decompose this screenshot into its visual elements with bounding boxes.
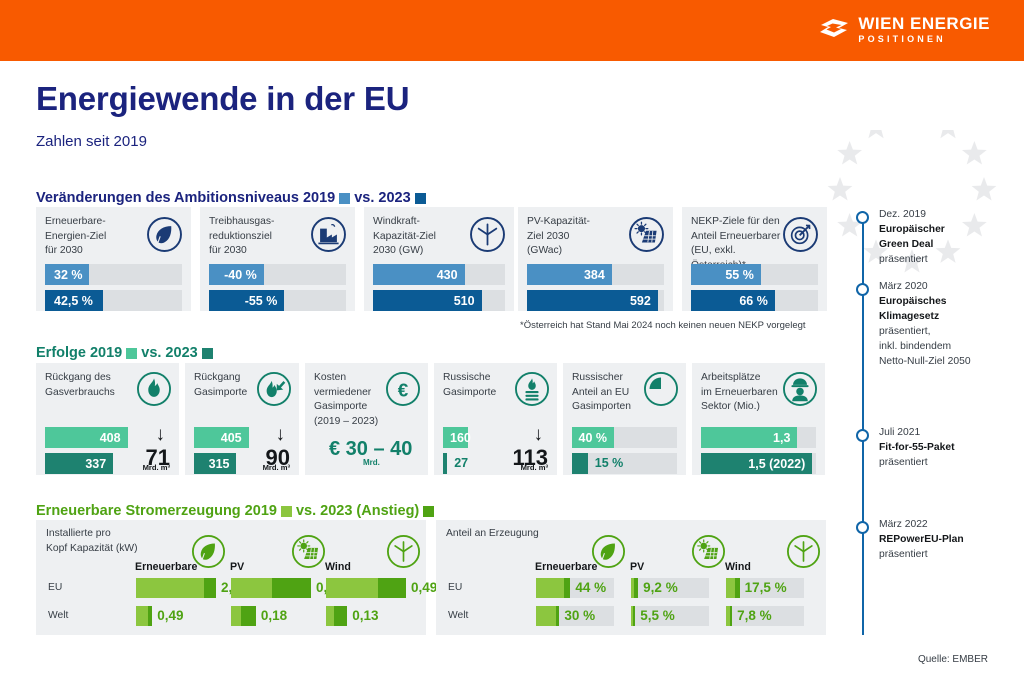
eu-star bbox=[962, 141, 987, 165]
bar-track: 30 % bbox=[536, 606, 614, 626]
bar-fill-2019 bbox=[536, 606, 556, 626]
group-icon bbox=[191, 534, 226, 574]
eu-star bbox=[828, 177, 853, 201]
bar-fill-2019: 1,3 bbox=[701, 427, 797, 448]
bar-fill-total bbox=[536, 578, 570, 598]
bar-track: 0,18 bbox=[231, 606, 311, 626]
bar-value-label: 42,5 % bbox=[54, 294, 93, 308]
bar-fill-2019: -40 % bbox=[209, 264, 264, 285]
panel-title: Installierte proKopf Kapazität (kW) bbox=[46, 527, 206, 556]
timeline-date: März 2022 bbox=[879, 518, 1009, 533]
eu-star bbox=[972, 177, 997, 201]
group-label: PV bbox=[230, 561, 244, 573]
bar-fill-2019 bbox=[231, 606, 241, 626]
section-heading-stromerzeugung: Erneuerbare Stromerzeugung 2019vs. 2023 … bbox=[36, 503, 438, 519]
card-title: Arbeitsplätzeim ErneuerbarenSektor (Mio.… bbox=[701, 371, 788, 415]
card-icon bbox=[782, 216, 819, 258]
legend-swatch-2019 bbox=[126, 348, 137, 359]
bar-fill-2023: 510 bbox=[373, 290, 482, 311]
bar-fill-total bbox=[631, 606, 635, 626]
section-heading-compare: vs. 2023 bbox=[354, 190, 410, 206]
group-icon bbox=[786, 534, 821, 574]
bar-fill-total bbox=[726, 606, 732, 626]
timeline-title: Fit-for-55-Paket bbox=[879, 442, 955, 453]
bar-fill-2019: 430 bbox=[373, 264, 465, 285]
target-icon bbox=[782, 216, 819, 253]
erfolge-card-2: KostenvermiedenerGasimporte(2019 – 2023)… bbox=[305, 363, 428, 475]
legend-swatch-2023 bbox=[202, 348, 213, 359]
ambition-card-1: Treibhausgas-reduktionszielfür 2030-40 %… bbox=[200, 207, 355, 311]
factory-icon bbox=[310, 216, 347, 253]
ambition-card-4: NEKP-Ziele für denAnteil Erneuerbarer(EU… bbox=[682, 207, 827, 311]
bar-track: 510 bbox=[373, 290, 505, 311]
bar-track: 5,5 % bbox=[631, 606, 709, 626]
bar-fill-total bbox=[326, 578, 406, 598]
bar-fill-2019 bbox=[136, 606, 148, 626]
bar-value-label: 5,5 % bbox=[640, 608, 675, 623]
bar-value-label: 592 bbox=[630, 294, 651, 308]
bar-value-label: 15 % bbox=[595, 456, 624, 470]
group-label: PV bbox=[630, 561, 644, 573]
source-note: Quelle: EMBER bbox=[918, 654, 988, 665]
delta-unit: Mrd. m³ bbox=[263, 463, 290, 472]
bar-track: 66 % bbox=[691, 290, 818, 311]
timeline-dot-2[interactable] bbox=[856, 429, 869, 442]
timeline-date: Juli 2021 bbox=[879, 426, 1009, 441]
bar-fill-total bbox=[726, 578, 740, 598]
bar-track: 44 % bbox=[536, 578, 614, 598]
wind-turbine-icon bbox=[386, 534, 421, 569]
bar-fill-2023: 42,5 % bbox=[45, 290, 103, 311]
bar-value-label: 408 bbox=[100, 431, 121, 445]
decrease-arrow-icon: ↓ bbox=[276, 425, 286, 444]
bar-track: 0,49 bbox=[326, 578, 406, 598]
bar-value-label: 315 bbox=[209, 457, 230, 471]
solar-panel-icon bbox=[691, 534, 726, 569]
bar-value-label: 160 bbox=[450, 431, 471, 445]
row-label-eu: EU bbox=[48, 582, 62, 593]
card-title: Windkraft-Kapazität-Ziel2030 (GW) bbox=[373, 215, 475, 259]
timeline-entry-3: März 2022REPowerEU-Planpräsentiert bbox=[879, 518, 1009, 563]
row-label-welt: Welt bbox=[448, 610, 468, 621]
timeline-detail: präsentiert bbox=[879, 456, 1009, 471]
bar-track: 1,5 (2022) bbox=[701, 453, 816, 474]
timeline-title: REPowerEU-Plan bbox=[879, 534, 964, 545]
strom-panel-0: Installierte proKopf Kapazität (kW)EUWel… bbox=[36, 520, 426, 635]
timeline-detail: präsentiert,inkl. bindendemNetto-Null-Zi… bbox=[879, 325, 1009, 370]
card-icon bbox=[146, 216, 183, 258]
bar-track: 405 bbox=[194, 427, 252, 448]
bar-value-label: 44 % bbox=[575, 580, 606, 595]
solar-panel-icon bbox=[291, 534, 326, 569]
legend-swatch-2023 bbox=[415, 193, 426, 204]
row-label-welt: Welt bbox=[48, 610, 68, 621]
bar-track: 17,5 % bbox=[726, 578, 804, 598]
timeline-axis bbox=[862, 213, 864, 635]
bar-fill-2023: 315 bbox=[194, 453, 236, 474]
bar-track: 40 % bbox=[572, 427, 677, 448]
card-icon: € bbox=[385, 371, 421, 412]
bar-fill-2019: 384 bbox=[527, 264, 612, 285]
bar-fill-2019: 408 bbox=[45, 427, 128, 448]
section-heading-label: Veränderungen des Ambitionsniveaus 2019 bbox=[36, 190, 335, 206]
bar-track: 0,58 bbox=[231, 578, 311, 598]
timeline-entry-0: Dez. 2019EuropäischerGreen Dealpräsentie… bbox=[879, 208, 1009, 268]
erfolge-card-1: RückgangGasimporte405315↓90Mrd. m³ bbox=[185, 363, 299, 475]
bar-track: -55 % bbox=[209, 290, 346, 311]
bar-fill-total bbox=[136, 578, 216, 598]
brand-title: WIEN ENERGIE bbox=[858, 15, 990, 32]
bar-track: 7,8 % bbox=[726, 606, 804, 626]
legend-swatch-2019 bbox=[281, 506, 292, 517]
bar-track: 2,42 bbox=[136, 578, 216, 598]
card-icon bbox=[136, 371, 172, 412]
card-title: RückgangGasimporte bbox=[194, 371, 262, 400]
pie-chart-icon bbox=[643, 371, 679, 407]
bar-value-label: 66 % bbox=[739, 294, 768, 308]
bar-track: 337 bbox=[45, 453, 132, 474]
bar-value-label: 337 bbox=[85, 457, 106, 471]
ambition-card-3: PV-Kapazität-Ziel 2030(GWac)384592 bbox=[518, 207, 673, 311]
ambition-card-2: Windkraft-Kapazität-Ziel2030 (GW)430510 bbox=[364, 207, 514, 311]
timeline-detail: präsentiert bbox=[879, 253, 1009, 268]
eu-star bbox=[864, 130, 889, 138]
bar-value-label: 384 bbox=[584, 268, 605, 282]
bar-fill-2019 bbox=[631, 578, 634, 598]
erfolge-card-3: RussischeGasimporte16027↓113Mrd. m³ bbox=[434, 363, 557, 475]
card-title: PV-Kapazität-Ziel 2030(GWac) bbox=[527, 215, 634, 259]
leaf-icon bbox=[191, 534, 226, 569]
timeline-entry-2: Juli 2021Fit-for-55-Paketpräsentiert bbox=[879, 426, 1009, 471]
group-label: Wind bbox=[325, 561, 351, 573]
ambition-footnote: *Österreich hat Stand Mai 2024 noch kein… bbox=[520, 320, 806, 331]
bar-fill-2019: 405 bbox=[194, 427, 249, 448]
wien-energie-logo: WIEN ENERGIE POSITIONEN bbox=[819, 15, 990, 44]
bar-fill-2019: 160 bbox=[443, 427, 468, 448]
bar-track: 9,2 % bbox=[631, 578, 709, 598]
timeline-date: März 2020 bbox=[879, 280, 1009, 295]
bar-track: 0,49 bbox=[136, 606, 216, 626]
card-title: Erneuerbare-Energien-Zielfür 2030 bbox=[45, 215, 152, 259]
group-icon bbox=[291, 534, 326, 574]
timeline-title: EuropäischesKlimagesetz bbox=[879, 296, 947, 322]
bar-track: 592 bbox=[527, 290, 664, 311]
eu-star bbox=[936, 130, 961, 138]
bar-value-label: 1,5 (2022) bbox=[748, 457, 805, 471]
svg-text:€: € bbox=[398, 379, 409, 400]
timeline-title: EuropäischerGreen Deal bbox=[879, 224, 945, 250]
bar-fill-2019: 55 % bbox=[691, 264, 761, 285]
flame-icon bbox=[136, 371, 172, 407]
bar-value-label: 30 % bbox=[564, 608, 595, 623]
bar-fill-2019: 40 % bbox=[572, 427, 614, 448]
stat-value: € 30 – 40 bbox=[329, 439, 412, 459]
bar-fill-2019 bbox=[326, 606, 334, 626]
bar-value-label: -40 % bbox=[224, 268, 257, 282]
flame-down-icon bbox=[256, 371, 292, 407]
bar-fill-2019 bbox=[726, 578, 735, 598]
card-icon bbox=[628, 216, 665, 258]
erfolge-card-5: Arbeitsplätzeim ErneuerbarenSektor (Mio.… bbox=[692, 363, 825, 475]
bar-track: 15 % bbox=[572, 453, 677, 474]
decrease-arrow-icon: ↓ bbox=[156, 425, 166, 444]
bar-fill-2023: 66 % bbox=[691, 290, 775, 311]
lightning-logo-icon bbox=[819, 18, 849, 42]
group-icon bbox=[386, 534, 421, 574]
timeline-date: Dez. 2019 bbox=[879, 208, 1009, 223]
bar-track: 384 bbox=[527, 264, 664, 285]
leaf-icon bbox=[591, 534, 626, 569]
timeline-entry-1: März 2020EuropäischesKlimagesetzpräsenti… bbox=[879, 280, 1009, 370]
bar-track: 408 bbox=[45, 427, 132, 448]
group-label: Erneuerbare bbox=[135, 561, 197, 573]
timeline-dot-1[interactable] bbox=[856, 283, 869, 296]
page-title: Energiewende in der EU bbox=[36, 80, 409, 118]
bar-fill-2019 bbox=[136, 578, 204, 598]
bar-value-label: 55 % bbox=[725, 268, 754, 282]
group-label: Wind bbox=[725, 561, 751, 573]
card-icon bbox=[469, 216, 506, 258]
bar-track: 430 bbox=[373, 264, 505, 285]
bar-fill-2019 bbox=[326, 578, 378, 598]
stat-unit: Mrd. bbox=[363, 458, 380, 467]
wind-turbine-icon bbox=[469, 216, 506, 253]
page-subtitle: Zahlen seit 2019 bbox=[36, 133, 147, 150]
delta-unit: Mrd. m³ bbox=[521, 463, 548, 472]
timeline-dot-0[interactable] bbox=[856, 211, 869, 224]
bar-fill-2019 bbox=[631, 606, 633, 626]
timeline-dot-3[interactable] bbox=[856, 521, 869, 534]
section-heading-label: Erfolge 2019 bbox=[36, 345, 122, 361]
bar-fill-2023: -55 % bbox=[209, 290, 284, 311]
bar-value-label: 0,49 bbox=[411, 580, 437, 595]
gas-storage-icon bbox=[514, 371, 550, 407]
brand-subtitle: POSITIONEN bbox=[858, 35, 990, 44]
bar-track: 0,13 bbox=[326, 606, 406, 626]
ambition-card-0: Erneuerbare-Energien-Zielfür 203032 %42,… bbox=[36, 207, 191, 311]
erfolge-card-4: RussischerAnteil an EUGasimporten40 %15 … bbox=[563, 363, 686, 475]
bar-value-label: 1,3 bbox=[773, 431, 790, 445]
bar-value-label: 40 % bbox=[579, 431, 608, 445]
bar-value-label: 9,2 % bbox=[643, 580, 678, 595]
bar-fill-total bbox=[231, 578, 311, 598]
bar-fill-2019 bbox=[231, 578, 272, 598]
card-title: RussischerAnteil an EUGasimporten bbox=[572, 371, 649, 415]
bar-value-label: 27 bbox=[454, 456, 468, 470]
bar-track: 32 % bbox=[45, 264, 182, 285]
bar-fill-2023: 1,5 (2022) bbox=[701, 453, 812, 474]
bar-track: 27 bbox=[443, 453, 510, 474]
bar-track: 42,5 % bbox=[45, 290, 182, 311]
bar-track: -40 % bbox=[209, 264, 346, 285]
card-icon bbox=[256, 371, 292, 412]
solar-panel-icon bbox=[628, 216, 665, 253]
section-heading-compare: vs. 2023 (Anstieg) bbox=[296, 503, 419, 519]
bar-value-label: 7,8 % bbox=[737, 608, 772, 623]
bar-fill-2019 bbox=[726, 606, 730, 626]
bar-value-label: -55 % bbox=[245, 294, 278, 308]
eu-star bbox=[837, 141, 862, 165]
timeline-detail: präsentiert bbox=[879, 548, 1009, 563]
card-icon bbox=[310, 216, 347, 258]
bar-fill-2023 bbox=[443, 453, 447, 474]
group-icon bbox=[691, 534, 726, 574]
bar-value-label: 17,5 % bbox=[745, 580, 787, 595]
bar-fill-total bbox=[536, 606, 559, 626]
infographic-page: WIEN ENERGIE POSITIONEN Energiewende in … bbox=[0, 0, 1024, 683]
header-bar: WIEN ENERGIE POSITIONEN bbox=[0, 0, 1024, 61]
bar-value-label: 405 bbox=[221, 431, 242, 445]
panel-title: Anteil an Erzeugung bbox=[446, 527, 606, 542]
group-icon bbox=[591, 534, 626, 574]
bar-value-label: 0,49 bbox=[157, 608, 183, 623]
card-title: Rückgang desGasverbrauchs bbox=[45, 371, 142, 400]
section-heading-ambition: Veränderungen des Ambitionsniveaus 2019v… bbox=[36, 190, 430, 206]
decrease-arrow-icon: ↓ bbox=[534, 425, 544, 444]
bar-fill-2023: 337 bbox=[45, 453, 113, 474]
bar-value-label: 430 bbox=[437, 268, 458, 282]
bar-value-label: 0,18 bbox=[261, 608, 287, 623]
bar-track: 55 % bbox=[691, 264, 818, 285]
wind-turbine-icon bbox=[786, 534, 821, 569]
bar-track: 315 bbox=[194, 453, 252, 474]
bar-value-label: 510 bbox=[454, 294, 475, 308]
card-icon bbox=[643, 371, 679, 412]
section-heading-compare: vs. 2023 bbox=[141, 345, 197, 361]
section-heading-label: Erneuerbare Stromerzeugung 2019 bbox=[36, 503, 277, 519]
bar-fill-total bbox=[136, 606, 152, 626]
bar-value-label: 32 % bbox=[54, 268, 83, 282]
bar-track: 1,3 bbox=[701, 427, 816, 448]
card-icon bbox=[514, 371, 550, 412]
legend-swatch-2023 bbox=[423, 506, 434, 517]
euro-icon: € bbox=[385, 371, 421, 407]
leaf-icon bbox=[146, 216, 183, 253]
bar-fill-2019: 32 % bbox=[45, 264, 89, 285]
strom-panel-1: Anteil an ErzeugungEUWeltErneuerbare44 %… bbox=[436, 520, 826, 635]
card-title: Treibhausgas-reduktionszielfür 2030 bbox=[209, 215, 316, 259]
bar-track: 160 bbox=[443, 427, 510, 448]
section-heading-erfolge: Erfolge 2019vs. 2023 bbox=[36, 345, 217, 361]
erfolge-card-0: Rückgang desGasverbrauchs408337↓71Mrd. m… bbox=[36, 363, 179, 475]
bar-fill-total bbox=[231, 606, 256, 626]
row-label-eu: EU bbox=[448, 582, 462, 593]
bar-fill-total bbox=[326, 606, 347, 626]
bar-fill-2023 bbox=[572, 453, 588, 474]
bar-fill-2023: 592 bbox=[527, 290, 658, 311]
delta-unit: Mrd. m³ bbox=[143, 463, 170, 472]
card-title: RussischeGasimporte bbox=[443, 371, 520, 400]
bar-fill-total bbox=[631, 578, 638, 598]
bar-value-label: 0,13 bbox=[352, 608, 378, 623]
legend-swatch-2019 bbox=[339, 193, 350, 204]
card-icon bbox=[782, 371, 818, 412]
card-title: KostenvermiedenerGasimporte(2019 – 2023) bbox=[314, 371, 391, 429]
group-label: Erneuerbare bbox=[535, 561, 597, 573]
bar-fill-2019 bbox=[536, 578, 564, 598]
worker-icon bbox=[782, 371, 818, 407]
